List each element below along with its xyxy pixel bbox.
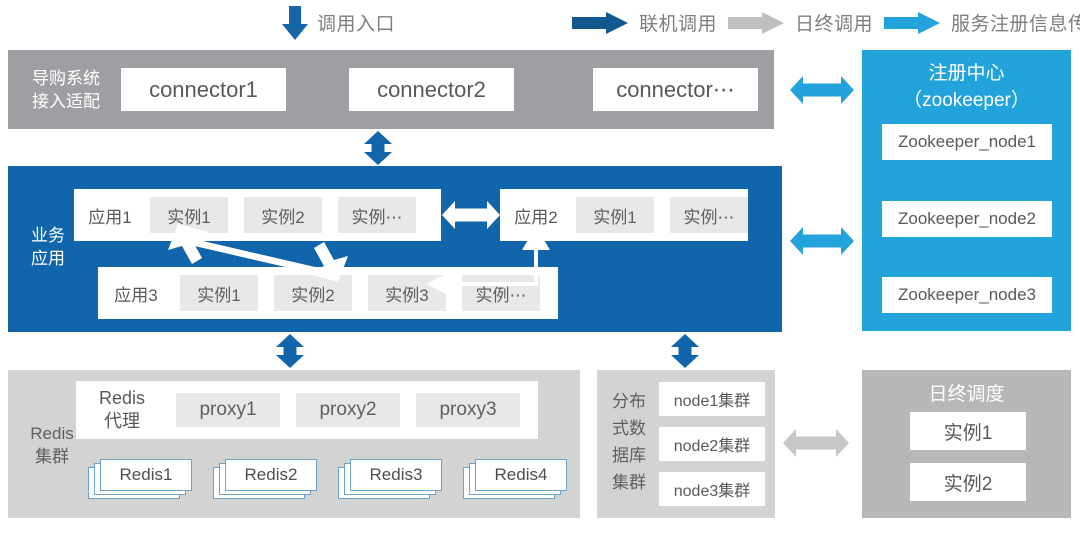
right-arrow-icon — [728, 12, 786, 34]
redis-cluster-panel: Redis 集群 Redis 代理 proxy1 proxy2 proxy3 R… — [8, 370, 580, 518]
scheduler-instance-2[interactable]: 实例2 — [910, 463, 1026, 501]
app2-instance-2[interactable]: 实例⋯ — [670, 197, 748, 233]
redis-cluster-label-line2: 集群 — [14, 445, 90, 468]
app-name-1: 应用1 — [74, 203, 146, 228]
arrow-connector-to-registry — [790, 75, 854, 105]
connector-box-3[interactable]: connector⋯ — [593, 68, 758, 111]
redis-proxy-row: Redis 代理 proxy1 proxy2 proxy3 — [76, 381, 538, 439]
database-node-2[interactable]: node2集群 — [659, 427, 765, 461]
legend-label-registry: 服务注册信息传递 — [951, 9, 1080, 36]
legend-label-online: 联机调用 — [639, 9, 717, 36]
arrow-connector-to-business — [357, 131, 399, 165]
registry-title: 注册中心 （zookeeper） — [862, 60, 1071, 114]
redis-proxy-label-line1: Redis — [76, 387, 168, 410]
business-app-label-line2: 应用 — [18, 247, 78, 270]
right-arrow-icon — [572, 12, 630, 34]
arrow-app3-to-app2 — [408, 226, 588, 298]
connector-layer-panel: 导购系统 接入适配 connector1 connector2 connecto… — [8, 50, 774, 129]
arrow-database-to-scheduler — [783, 428, 849, 458]
connector-layer-label-line1: 导购系统 — [16, 67, 116, 90]
registry-title-line2: （zookeeper） — [862, 87, 1071, 114]
database-cluster-label-line2: 式数 — [601, 415, 657, 442]
redis-node-1[interactable]: Redis1 — [88, 459, 192, 499]
arrow-business-to-redis — [269, 334, 311, 368]
connector-layer-label-line2: 接入适配 — [16, 90, 116, 113]
arrow-app1-to-app3 — [168, 224, 388, 282]
redis-node-4-label: Redis4 — [475, 459, 567, 491]
legend-item-registry: 服务注册信息传递 — [884, 0, 1080, 45]
database-node-1[interactable]: node1集群 — [659, 382, 765, 416]
connector-layer-label: 导购系统 接入适配 — [16, 67, 116, 113]
redis-proxy-label-line2: 代理 — [76, 410, 168, 433]
redis-proxy-2[interactable]: proxy2 — [296, 393, 400, 427]
legend: 调用入口 联机调用 日终调用 服务注册信息传递 — [0, 0, 1080, 45]
database-cluster-label-line3: 据库 — [601, 442, 657, 469]
redis-node-3[interactable]: Redis3 — [338, 459, 442, 499]
registry-node-2[interactable]: Zookeeper_node2 — [882, 201, 1052, 237]
legend-label-dayend: 日终调用 — [795, 9, 873, 36]
business-app-label: 业务 应用 — [18, 224, 78, 270]
app-name-3: 应用3 — [98, 281, 174, 306]
redis-proxy-3[interactable]: proxy3 — [416, 393, 520, 427]
database-cluster-label: 分布 式数 据库 集群 — [601, 388, 657, 496]
legend-entry: 调用入口 — [282, 0, 395, 45]
database-cluster-label-line1: 分布 — [601, 388, 657, 415]
database-cluster-label-line4: 集群 — [601, 469, 657, 496]
registry-panel: 注册中心 （zookeeper） Zookeeper_node1 Zookeep… — [862, 50, 1071, 331]
scheduler-instance-1[interactable]: 实例1 — [910, 412, 1026, 450]
database-node-3[interactable]: node3集群 — [659, 472, 765, 506]
connector-box-2[interactable]: connector2 — [349, 68, 514, 111]
scheduler-title: 日终调度 — [862, 379, 1071, 406]
redis-proxy-1[interactable]: proxy1 — [176, 393, 280, 427]
connector-box-1[interactable]: connector1 — [121, 68, 286, 111]
arrow-business-to-registry — [790, 226, 854, 256]
redis-proxy-label: Redis 代理 — [76, 387, 168, 433]
database-cluster-panel: 分布 式数 据库 集群 node1集群 node2集群 node3集群 — [597, 370, 775, 518]
redis-node-2-label: Redis2 — [225, 459, 317, 491]
architecture-diagram: 调用入口 联机调用 日终调用 服务注册信息传递 导购系统 接入适配 conn — [0, 0, 1080, 535]
registry-title-line1: 注册中心 — [862, 60, 1071, 87]
arrow-business-to-database — [664, 334, 706, 368]
app-name-2: 应用2 — [500, 203, 572, 228]
business-app-panel: 业务 应用 应用1 实例1 实例2 实例⋯ 应用2 实例1 实例⋯ 应用3 实例… — [8, 166, 782, 332]
business-app-label-line1: 业务 — [18, 224, 78, 247]
registry-node-3[interactable]: Zookeeper_node3 — [882, 277, 1052, 313]
legend-item-dayend: 日终调用 — [728, 0, 873, 45]
redis-node-2[interactable]: Redis2 — [213, 459, 317, 499]
scheduler-panel: 日终调度 实例1 实例2 — [862, 370, 1071, 518]
redis-node-3-label: Redis3 — [350, 459, 442, 491]
redis-node-1-label: Redis1 — [100, 459, 192, 491]
down-arrow-icon — [282, 6, 308, 40]
registry-node-1[interactable]: Zookeeper_node1 — [882, 124, 1052, 160]
legend-entry-label: 调用入口 — [317, 9, 395, 36]
redis-node-4[interactable]: Redis4 — [463, 459, 567, 499]
right-arrow-icon — [884, 12, 942, 34]
legend-item-online: 联机调用 — [572, 0, 717, 45]
